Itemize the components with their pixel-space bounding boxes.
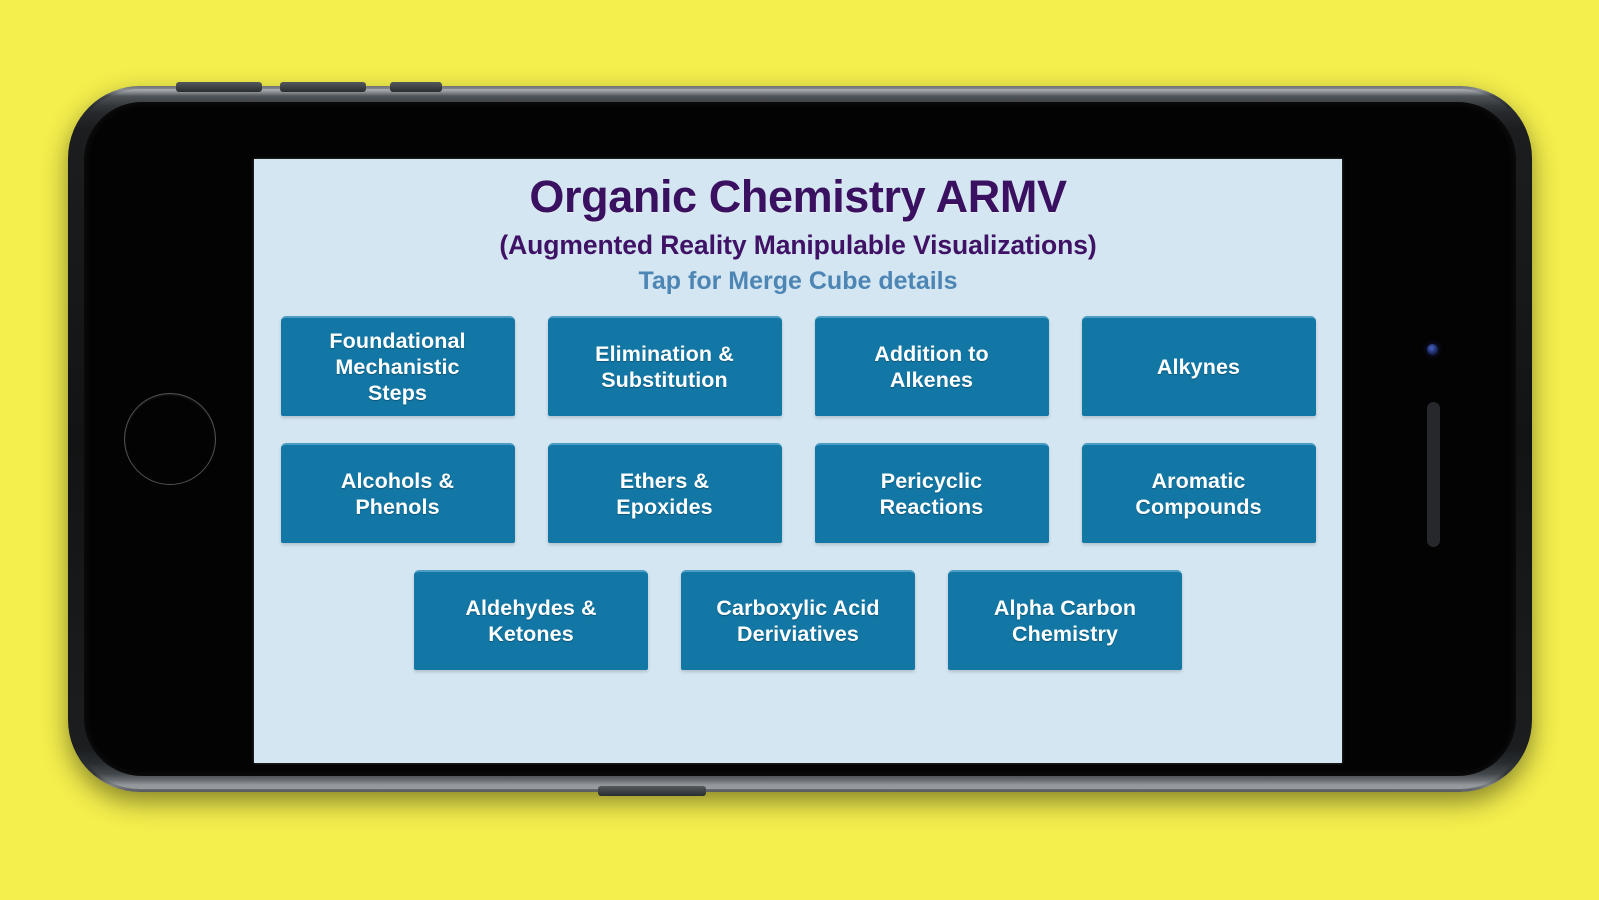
topic-row-2: Alcohols & Phenols Ethers & Epoxides Per… xyxy=(281,443,1316,543)
phone-device: Organic Chemistry ARMV (Augmented Realit… xyxy=(68,86,1532,792)
app-tagline-merge-cube-details[interactable]: Tap for Merge Cube details xyxy=(254,268,1342,296)
volume-up-button[interactable] xyxy=(176,82,262,92)
app-header: Organic Chemistry ARMV (Augmented Realit… xyxy=(254,159,1342,295)
topic-button-alkynes[interactable]: Alkynes xyxy=(1082,316,1316,416)
topic-button-pericyclic-reactions[interactable]: Pericyclic Reactions xyxy=(815,443,1049,543)
topic-row-1: Foundational Mechanistic Steps Eliminati… xyxy=(281,316,1316,416)
mute-switch[interactable] xyxy=(390,82,442,92)
topic-button-aromatic-compounds[interactable]: Aromatic Compounds xyxy=(1082,443,1316,543)
topic-button-alpha-carbon-chemistry[interactable]: Alpha Carbon Chemistry xyxy=(948,570,1182,670)
power-button[interactable] xyxy=(598,786,706,796)
front-camera-icon xyxy=(1427,344,1438,355)
topic-button-carboxylic-acid-derivatives[interactable]: Carboxylic Acid Deriviatives xyxy=(681,570,915,670)
topic-button-addition-to-alkenes[interactable]: Addition to Alkenes xyxy=(815,316,1049,416)
phone-glass-face: Organic Chemistry ARMV (Augmented Realit… xyxy=(84,102,1516,776)
topic-button-ethers-epoxides[interactable]: Ethers & Epoxides xyxy=(548,443,782,543)
topic-button-aldehydes-ketones[interactable]: Aldehydes & Ketones xyxy=(414,570,648,670)
volume-down-button[interactable] xyxy=(280,82,366,92)
home-button[interactable] xyxy=(124,393,216,485)
app-subtitle: (Augmented Reality Manipulable Visualiza… xyxy=(254,231,1342,260)
topic-button-grid: Foundational Mechanistic Steps Eliminati… xyxy=(281,316,1316,697)
topic-button-foundational-mechanistic-steps[interactable]: Foundational Mechanistic Steps xyxy=(281,316,515,416)
app-screen: Organic Chemistry ARMV (Augmented Realit… xyxy=(254,159,1342,763)
topic-row-3: Aldehydes & Ketones Carboxylic Acid Deri… xyxy=(281,570,1316,670)
earpiece-speaker xyxy=(1427,402,1440,547)
topic-button-elimination-substitution[interactable]: Elimination & Substitution xyxy=(548,316,782,416)
app-title: Organic Chemistry ARMV xyxy=(254,173,1342,222)
topic-button-alcohols-phenols[interactable]: Alcohols & Phenols xyxy=(281,443,515,543)
